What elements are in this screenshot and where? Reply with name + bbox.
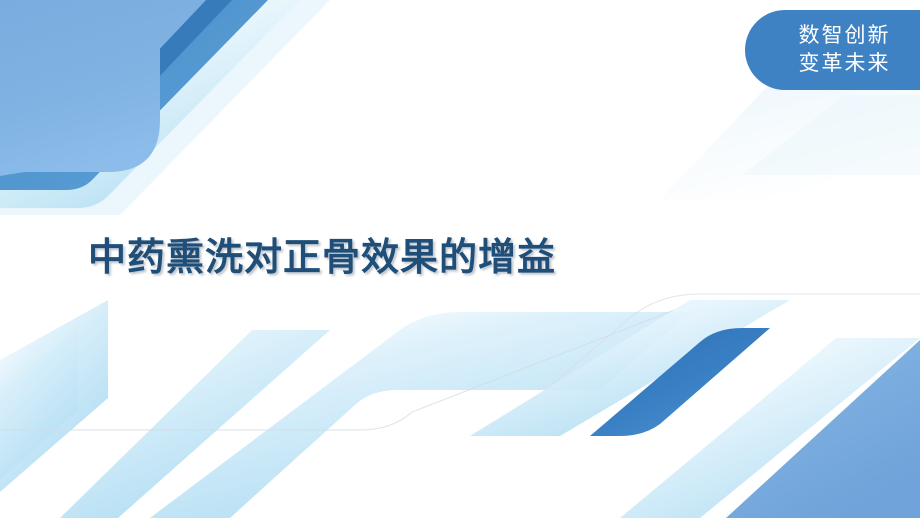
page-title: 中药熏洗对正骨效果的增益 [88, 232, 788, 284]
bottom-right-pale-sliver [620, 338, 920, 518]
bottom-mid-swoosh [150, 312, 690, 518]
bottom-right-dark-shape [555, 322, 860, 436]
bottom-hairline [0, 300, 700, 430]
corner-badge-line-2: 变革未来 [799, 50, 891, 78]
bottom-right-pale-stripe [470, 300, 790, 436]
top-left-main-panel-body [0, 0, 196, 172]
top-left-main-panel [0, 0, 206, 176]
corner-badge: 数智创新 变革未来 [745, 10, 920, 90]
slide-canvas: 数智创新 变革未来 中药熏洗对正骨效果的增益 [0, 0, 920, 518]
top-left-pale-band [0, 0, 330, 215]
bottom-left-swoosh [60, 330, 330, 518]
bottom-left-stripe-a [0, 300, 108, 492]
bottom-right-corner-triangle [726, 340, 920, 518]
bottom-right-dark-parallelogram [590, 328, 770, 436]
top-left-mid-stripe [0, 0, 268, 190]
bottom-left-stripe-outer [0, 330, 78, 480]
corner-badge-line-1: 数智创新 [799, 22, 891, 50]
bottom-hairline-2 [520, 294, 920, 412]
title-container: 中药熏洗对正骨效果的增益 [88, 232, 788, 284]
top-left-dark-stripe [0, 0, 232, 168]
top-left-light-band [0, 0, 300, 208]
